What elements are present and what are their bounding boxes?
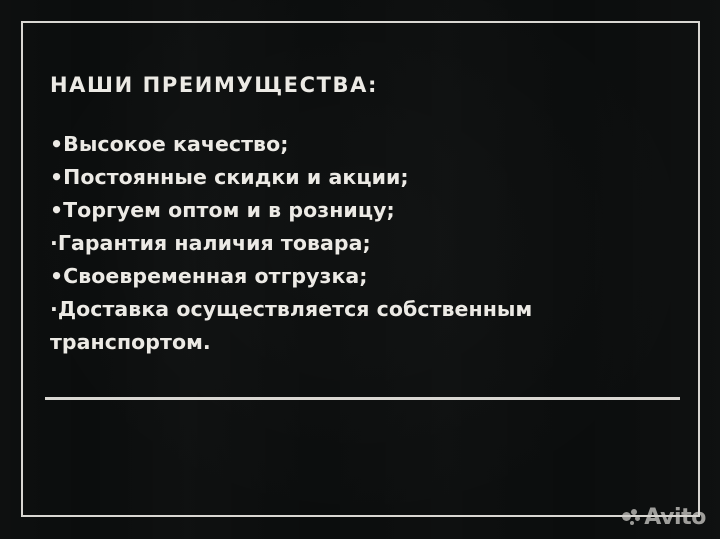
benefits-list: •Высокое качество; •Постоянные скидки и …: [50, 128, 680, 359]
advantages-poster: НАШИ ПРЕИМУЩЕСТВА: •Высокое качество; •П…: [0, 0, 720, 539]
list-item: •Торгуем оптом и в розницу;: [50, 194, 650, 227]
list-item: •Высокое качество;: [50, 128, 650, 161]
list-item: ·Гарантия наличия товара;: [50, 227, 650, 260]
horizontal-divider: [45, 397, 680, 400]
list-item: •Своевременная отгрузка;: [50, 260, 650, 293]
poster-content: НАШИ ПРЕИМУЩЕСТВА: •Высокое качество; •П…: [50, 72, 680, 359]
list-item: ·Доставка осуществляется собственным тра…: [50, 293, 650, 359]
list-item: •Постоянные скидки и акции;: [50, 161, 650, 194]
page-title: НАШИ ПРЕИМУЩЕСТВА:: [50, 72, 680, 98]
